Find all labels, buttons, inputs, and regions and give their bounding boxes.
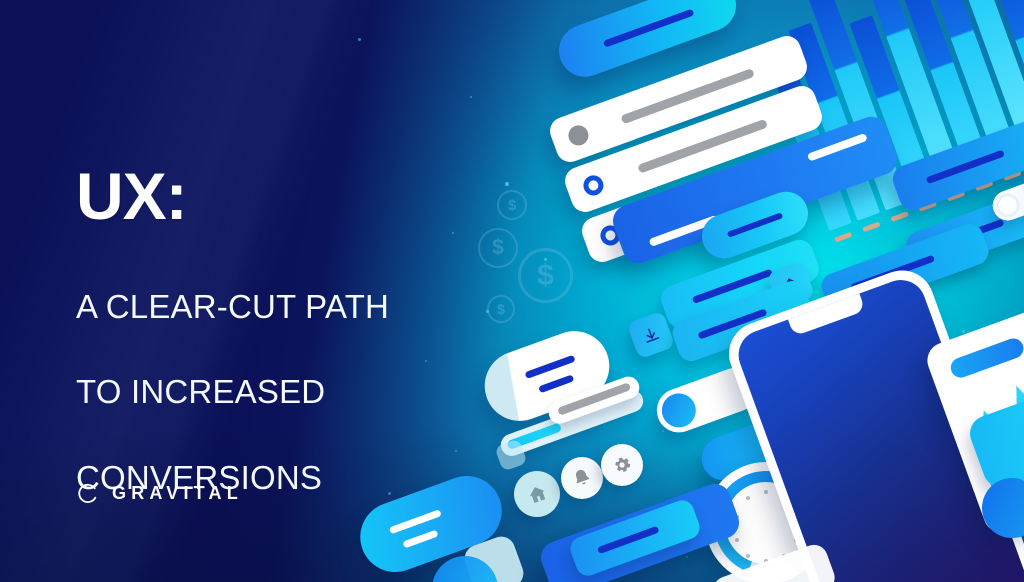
home-icon: [524, 481, 551, 508]
toggle-knob: [992, 190, 1023, 221]
radio-button[interactable]: [581, 173, 607, 199]
dollar-coin-icon: $: [518, 248, 573, 303]
card-title-pill: [948, 336, 1024, 381]
subheadline-line-2: TO INCREASED: [76, 371, 496, 414]
home-button[interactable]: [514, 471, 560, 517]
card-line: [538, 374, 574, 393]
notifications-button[interactable]: [561, 457, 603, 499]
pill-label-bar: [597, 526, 660, 554]
dollar-coin-icon: $: [497, 190, 527, 220]
chart-tick-label: [834, 232, 853, 243]
pill-label-bar: [727, 212, 784, 237]
toggle-knob: [657, 389, 701, 433]
logo-wordmark: GRAVITAL: [112, 483, 243, 504]
avatar: [566, 123, 592, 149]
pill-label-bar: [926, 150, 1005, 185]
button-label-bar: [807, 133, 868, 162]
subheadline-line-1: A CLEAR-CUT PATH: [76, 286, 496, 329]
page-title: UX:: [76, 166, 496, 227]
chart-tick-label: [890, 211, 909, 222]
pill-label-bar: [603, 9, 695, 48]
download-icon: [639, 323, 662, 346]
gear-icon: [609, 452, 635, 478]
bell-icon: [569, 465, 595, 491]
chart-tick-label: [862, 221, 881, 232]
ux-hero-banner: $ $ $ $: [0, 0, 1024, 582]
brand-logo[interactable]: GRAVITAL: [76, 482, 243, 505]
settings-button[interactable]: [601, 444, 643, 486]
gravital-ring-icon: [76, 482, 99, 505]
